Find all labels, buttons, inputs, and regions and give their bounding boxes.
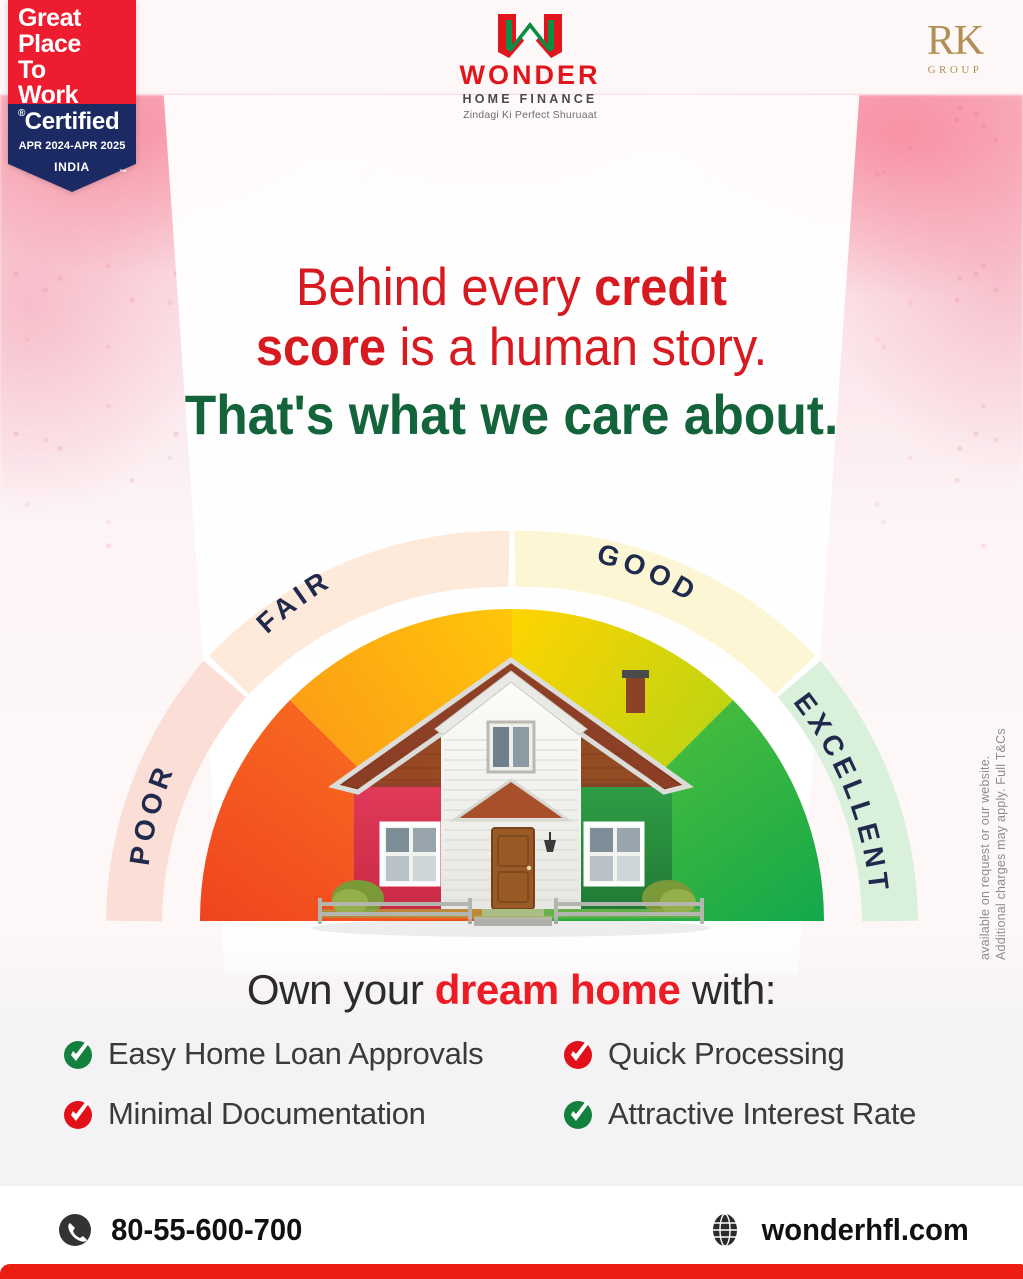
feature-label: Easy Home Loan Approvals: [108, 1036, 483, 1072]
badge-line-3: To: [18, 58, 130, 84]
badge-line-1: Great: [18, 6, 130, 32]
feature-row: Easy Home Loan Approvals Quick Processin…: [62, 1036, 982, 1072]
headline-line-3: That's what we care about.: [41, 383, 982, 447]
disclaimer-text: Additional charges may apply. Full T&Cs …: [938, 640, 1008, 960]
dream-highlight: dream home: [435, 966, 681, 1013]
dream-home-heading: Own your dream home with:: [0, 966, 1023, 1014]
feature-list: Easy Home Loan Approvals Quick Processin…: [62, 1036, 982, 1132]
trademark-mark: ™: [119, 168, 127, 177]
globe-icon: [708, 1213, 742, 1247]
check-circle-icon: [62, 1097, 96, 1131]
badge-headline: Great Place To Work®: [18, 6, 130, 119]
check-circle-icon: [562, 1037, 596, 1071]
disclaimer-line-1: Additional charges may apply. Full T&Cs: [994, 640, 1008, 960]
headline-line-2: score is a human story.: [41, 318, 982, 378]
feature-label: Attractive Interest Rate: [608, 1096, 916, 1132]
phone-number: 80-55-600-700: [111, 1212, 302, 1248]
badge-certified-label: Certified: [8, 108, 136, 136]
wonder-tagline: Zindagi Ki Perfect Shuruaat: [430, 109, 630, 121]
dream-pre: Own your: [247, 966, 435, 1013]
feature-label: Quick Processing: [608, 1036, 844, 1072]
house-illustration: [296, 640, 726, 940]
contact-website[interactable]: wonderhfl.com: [708, 1212, 975, 1248]
wonder-wordmark: WONDER: [430, 62, 630, 89]
phone-icon: [58, 1213, 92, 1247]
rk-group-label: GROUP: [905, 64, 1005, 76]
check-circle-icon: [62, 1037, 96, 1071]
chimney: [626, 673, 645, 713]
contact-phone[interactable]: 80-55-600-700: [58, 1212, 308, 1248]
badge-date-range: APR 2024-APR 2025: [8, 140, 136, 152]
feature-item-easy-home-loan-approvals: Easy Home Loan Approvals: [62, 1036, 562, 1072]
marketing-poster: Great Place To Work® Certified APR 2024-…: [0, 0, 1023, 1279]
wonder-home-finance-logo: WONDER HOME FINANCE Zindagi Ki Perfect S…: [430, 12, 630, 121]
headline-line-1: Behind every credit: [41, 258, 982, 318]
headline-block: Behind every credit score is a human sto…: [0, 258, 1023, 447]
rk-monogram: RK: [905, 20, 1005, 62]
great-place-to-work-badge: Great Place To Work® Certified APR 2024-…: [8, 0, 136, 192]
house-shadow: [311, 919, 711, 937]
feature-item-minimal-documentation: Minimal Documentation: [62, 1096, 562, 1132]
badge-line-2: Place: [18, 32, 130, 58]
feature-item-attractive-interest-rate: Attractive Interest Rate: [562, 1096, 982, 1132]
wonder-w-mark-icon: [494, 12, 566, 60]
feature-item-quick-processing: Quick Processing: [562, 1036, 982, 1072]
rk-group-logo: RK GROUP: [905, 20, 1005, 76]
feature-label: Minimal Documentation: [108, 1096, 426, 1132]
door-knob: [527, 866, 531, 870]
disclaimer-line-2: available on request or our website.: [978, 640, 992, 960]
website-url: wonderhfl.com: [762, 1212, 969, 1248]
footer-red-bar: [0, 1264, 1023, 1279]
wonder-subtitle: HOME FINANCE: [430, 92, 630, 106]
house-svg: [296, 640, 726, 940]
feature-row: Minimal Documentation Attractive Interes…: [62, 1096, 982, 1132]
dream-post: with:: [680, 966, 776, 1013]
badge-country: INDIA: [8, 160, 136, 174]
check-circle-icon: [562, 1097, 596, 1131]
